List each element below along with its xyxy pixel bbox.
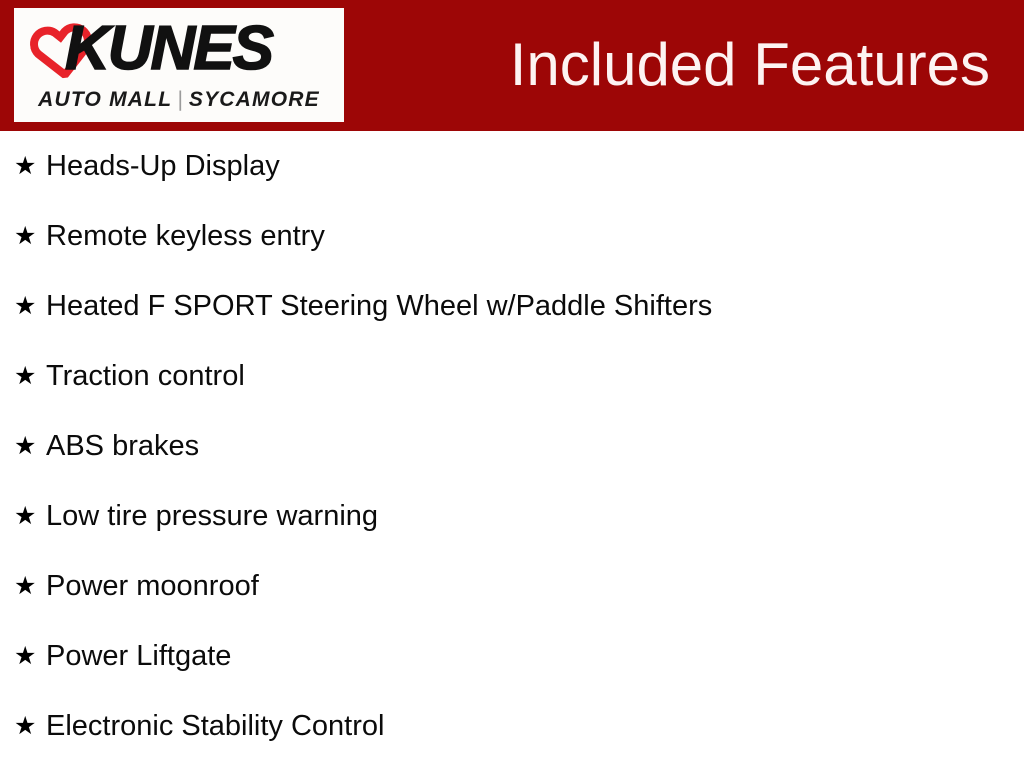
feature-label: ABS brakes: [46, 429, 1024, 463]
feature-list-item: ★Traction control: [0, 341, 1024, 411]
slide-root: KUNES AUTO MALL|SYCAMORE Included Featur…: [0, 0, 1024, 768]
logo-tagline-separator: |: [172, 88, 189, 111]
feature-list-item: ★Low tire pressure warning: [0, 481, 1024, 551]
feature-label: Heated F SPORT Steering Wheel w/Paddle S…: [46, 289, 1024, 323]
feature-list-item: ★Heads-Up Display: [0, 131, 1024, 201]
feature-label: Power moonroof: [46, 569, 1024, 603]
feature-label: Electronic Stability Control: [46, 709, 1024, 743]
header-banner: KUNES AUTO MALL|SYCAMORE Included Featur…: [0, 0, 1024, 131]
feature-list-item: ★Power moonroof: [0, 551, 1024, 621]
dealer-logo: KUNES AUTO MALL|SYCAMORE: [14, 8, 344, 122]
logo-tagline-right: SYCAMORE: [189, 88, 320, 111]
star-bullet-icon: ★: [14, 224, 46, 249]
page-title: Included Features: [510, 28, 990, 102]
star-bullet-icon: ★: [14, 154, 46, 179]
star-bullet-icon: ★: [14, 364, 46, 389]
logo-wordmark-row: KUNES: [14, 12, 344, 84]
star-bullet-icon: ★: [14, 574, 46, 599]
feature-list-item: ★ABS brakes: [0, 411, 1024, 481]
feature-label: Heads-Up Display: [46, 149, 1024, 183]
star-bullet-icon: ★: [14, 294, 46, 319]
feature-list-item: ★Electronic Stability Control: [0, 691, 1024, 761]
star-bullet-icon: ★: [14, 644, 46, 669]
logo-wordmark: KUNES: [65, 14, 344, 84]
feature-list-item: ★Power Liftgate: [0, 621, 1024, 691]
logo-tagline-left: AUTO MALL: [38, 88, 172, 111]
feature-list: ★Heads-Up Display★Remote keyless entry★H…: [0, 131, 1024, 768]
star-bullet-icon: ★: [14, 504, 46, 529]
feature-list-item: ★Remote keyless entry: [0, 201, 1024, 271]
star-bullet-icon: ★: [14, 434, 46, 459]
logo-tagline: AUTO MALL|SYCAMORE: [14, 88, 344, 112]
feature-label: Remote keyless entry: [46, 219, 1024, 253]
feature-list-item: ★Heated F SPORT Steering Wheel w/Paddle …: [0, 271, 1024, 341]
feature-label: Power Liftgate: [46, 639, 1024, 673]
star-bullet-icon: ★: [14, 714, 46, 739]
feature-label: Traction control: [46, 359, 1024, 393]
feature-label: Low tire pressure warning: [46, 499, 1024, 533]
